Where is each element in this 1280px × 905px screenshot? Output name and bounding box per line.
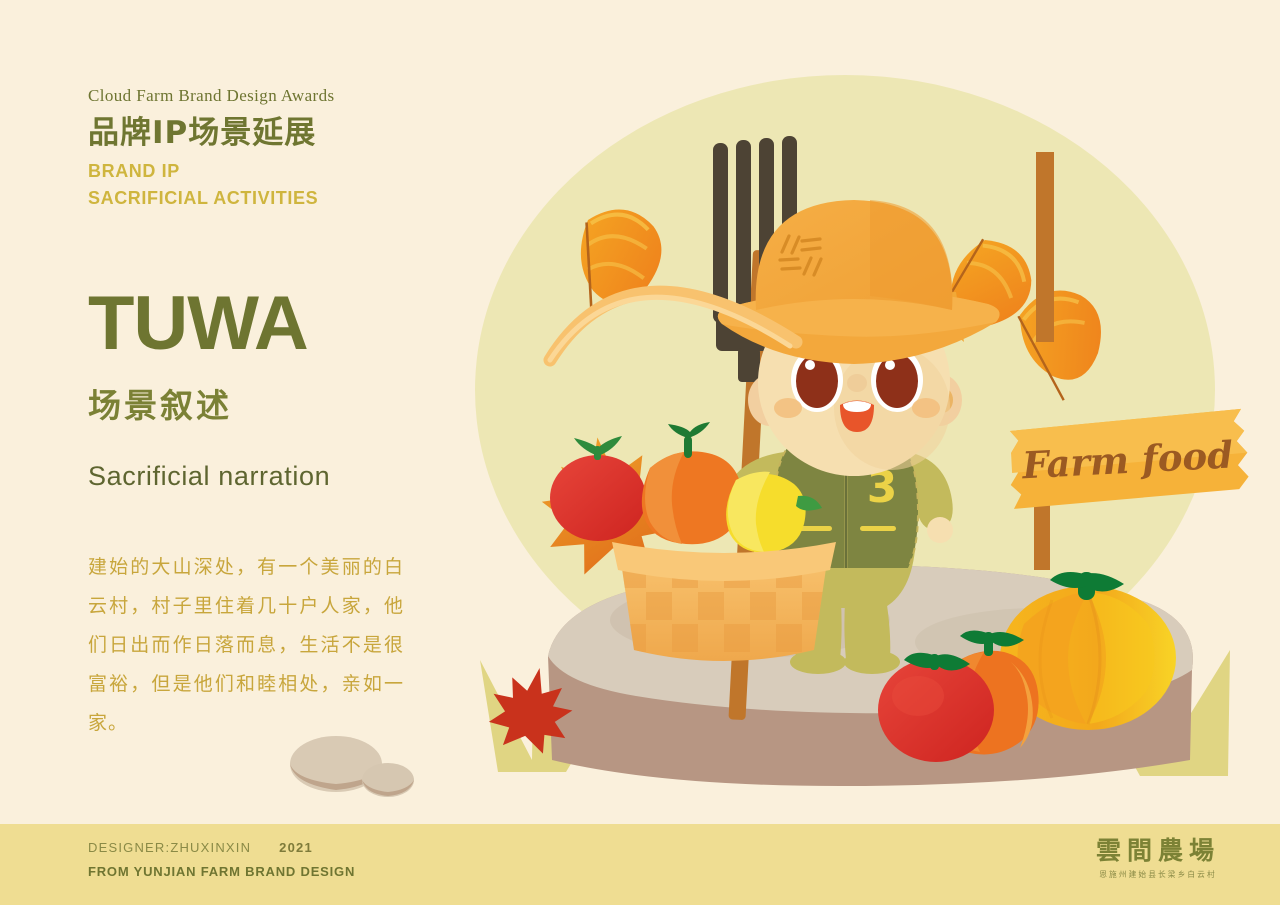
footer-band: DESIGNER:ZHUXINXIN2021 FROM YUNJIAN FARM… (0, 824, 1280, 905)
designer-name: DESIGNER:ZHUXINXIN (88, 840, 251, 855)
english-section-title: Sacrificial narration (88, 462, 468, 492)
body-paragraph: 建始的大山深处，有一个美丽的白云村，村子里住着几十户人家，他们日出而作日落而息，… (88, 548, 404, 743)
brand-logo: 雲間農場 恩施州建始县长梁乡白云村 (1096, 837, 1220, 880)
designer-credit: DESIGNER:ZHUXINXIN2021 (88, 840, 355, 855)
header-block: Cloud Farm Brand Design Awards 品牌IP场景延展 … (88, 86, 438, 212)
chinese-section-title: 场景叙述 (88, 388, 468, 424)
chinese-headline: 品牌IP场景延展 (88, 116, 438, 150)
english-subhead-line2: SACRIFICIAL ACTIVITIES (88, 185, 438, 212)
brand-credit: FROM YUNJIAN FARM BRAND DESIGN (88, 864, 355, 879)
english-subhead-line1: BRAND IP (88, 158, 438, 185)
brand-logo-subtitle: 恩施州建始县长梁乡白云村 (1098, 869, 1217, 880)
brand-logo-chinese: 雲間農場 (1096, 837, 1220, 865)
stone-small (362, 763, 414, 797)
stone-group (288, 728, 420, 800)
character-hand-right (927, 517, 953, 543)
sign-post (1036, 152, 1054, 342)
scene-illustration: Farm food (440, 60, 1280, 825)
footer-credits: DESIGNER:ZHUXINXIN2021 FROM YUNJIAN FARM… (88, 840, 355, 879)
basket-body (612, 542, 836, 661)
page-title: TUWA (88, 288, 468, 360)
eyebrow-text: Cloud Farm Brand Design Awards (88, 86, 438, 106)
title-block: TUWA 场景叙述 Sacrificial narration (88, 288, 468, 492)
character-cheek-left (774, 398, 802, 418)
poster-canvas: Cloud Farm Brand Design Awards 品牌IP场景延展 … (0, 0, 1280, 905)
vest-pocket-right (860, 526, 896, 531)
character-nose (847, 374, 867, 392)
year-label: 2021 (279, 840, 313, 855)
character-cheek-right (912, 398, 940, 418)
